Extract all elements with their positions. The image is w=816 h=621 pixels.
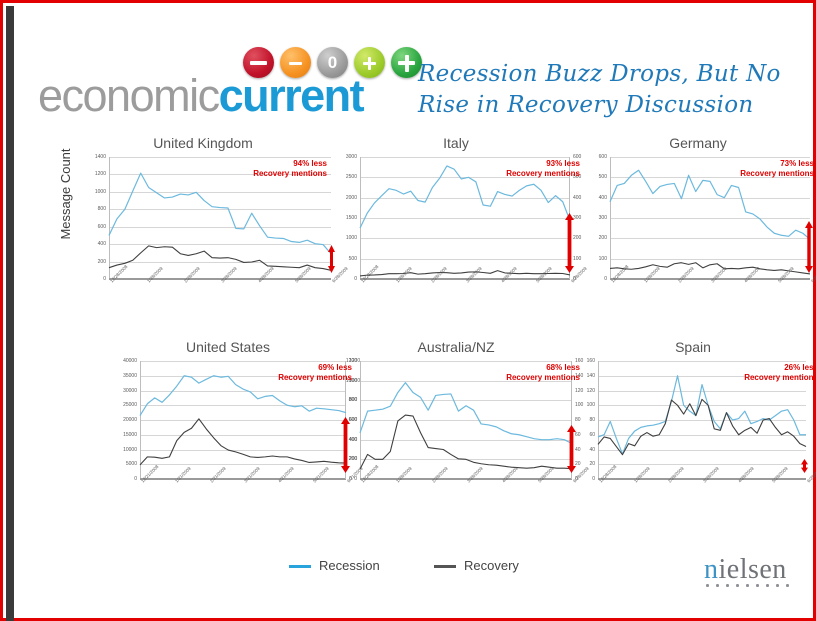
annotation-percent: 94% less (253, 159, 327, 169)
x-axis: 12/28/20081/28/20092/28/20093/28/20094/2… (360, 279, 570, 309)
chart-title: Spain (566, 339, 816, 355)
y-axis-left: 0500010000150002000025000300003500040000 (102, 361, 140, 479)
series-recovery (109, 246, 331, 270)
gap-arrow (800, 459, 809, 473)
y-tick-label: 40000 (123, 358, 137, 364)
y-tick-label: 30000 (123, 388, 137, 394)
nielsen-wordmark: nielsen (704, 554, 804, 586)
chart-title: United States (102, 339, 354, 355)
annotation-callout: 94% lessRecovery mentions (253, 159, 327, 179)
annotation-callout: 69% lessRecovery mentions (278, 363, 352, 383)
y-tick-label: 1000 (346, 235, 357, 241)
annotation-subtext: Recovery mentions (278, 373, 352, 383)
page-title: Recession Buzz Drops, But No Rise in Rec… (418, 59, 790, 121)
nielsen-logo: nielsen (704, 554, 804, 594)
series-recession (598, 376, 806, 454)
x-axis: 12/28/20081/28/20092/28/20093/28/20094/2… (610, 279, 810, 309)
annotation-subtext: Recovery mentions (506, 169, 580, 179)
y-tick-label: 0 (134, 476, 137, 482)
y-tick-label: 0 (354, 276, 357, 282)
gap-arrow (804, 221, 814, 273)
chart-legend: Recession Recovery (289, 557, 569, 577)
series-recession (610, 170, 810, 239)
y-axis-left: 0100200300400500600 (580, 157, 610, 279)
slide-frame: 0 economiccurrent Recession Buzz Drops, … (0, 0, 816, 621)
series-recovery (598, 399, 806, 454)
y-tick-label: 15000 (123, 432, 137, 438)
y-tick-label: 0 (592, 476, 595, 482)
y-tick-label: 60 (589, 432, 595, 438)
series-recovery (610, 263, 810, 274)
legend-label-recovery: Recovery (464, 557, 519, 575)
gap-arrow (327, 245, 336, 273)
series-recession (360, 383, 572, 444)
y-tick-label: 1500 (346, 215, 357, 221)
y-tick-label: 3000 (346, 154, 357, 160)
y-tick-label: 400 (98, 241, 106, 247)
y-tick-label: 1400 (95, 154, 106, 160)
annotation-percent: 73% less (740, 159, 814, 169)
y-tick-label: 0 (354, 476, 357, 482)
y-tick-label: 300 (599, 215, 607, 221)
annotation-callout: 68% lessRecovery mentions (506, 363, 580, 383)
slide-content: 0 economiccurrent Recession Buzz Drops, … (14, 9, 813, 618)
y-tick-label: 400 (599, 195, 607, 201)
y-tick-label: 5000 (126, 461, 137, 467)
y-tick-label: 20000 (123, 417, 137, 423)
y-axis-title: Message Count (58, 114, 73, 274)
y-axis-left: 0200400600800100012001400 (77, 157, 109, 279)
chart-panel-italy: Italy05001000150020002500300001002003004… (330, 135, 582, 287)
annotation-subtext: Recovery mentions (506, 373, 580, 383)
y-tick-label: 20 (589, 461, 595, 467)
annotation-subtext: Recovery mentions (253, 169, 327, 179)
series-recovery (140, 419, 346, 465)
economiccurrent-logo: 0 economiccurrent (38, 47, 418, 122)
annotation-callout: 93% lessRecovery mentions (506, 159, 580, 179)
brand-word-current: current (219, 70, 364, 121)
x-axis: 12/28/20081/28/20092/28/20093/28/20094/2… (109, 279, 331, 309)
brand-wordmark: economiccurrent (38, 71, 363, 121)
x-axis: 12/28/20081/28/20092/28/20093/28/20094/2… (598, 479, 806, 509)
slide-header: 0 economiccurrent Recession Buzz Drops, … (14, 9, 813, 129)
y-tick-label: 40 (589, 447, 595, 453)
y-tick-label: 100 (587, 402, 595, 408)
chart-title: Italy (330, 135, 582, 151)
y-tick-label: 35000 (123, 373, 137, 379)
y-tick-label: 100 (599, 256, 607, 262)
y-tick-label: 120 (587, 388, 595, 394)
chart-panel-united-kingdom: United Kingdom02004006008001000120014001… (77, 135, 329, 287)
series-recovery (360, 415, 572, 469)
series-recession (109, 173, 331, 254)
chart-panel-germany: Germany010020030040050060012/28/20081/28… (580, 135, 816, 287)
annotation-percent: 93% less (506, 159, 580, 169)
y-tick-label: 140 (587, 373, 595, 379)
annotation-subtext: Recovery mentions (740, 169, 814, 179)
nielsen-n: n (704, 554, 719, 585)
y-tick-label: 10000 (123, 447, 137, 453)
gap-arrow (564, 213, 575, 273)
legend-swatch-recession (289, 565, 311, 568)
chart-panel-australia-nz: Australia/NZ0200400600800100012000204060… (330, 339, 582, 499)
y-tick-label: 800 (349, 397, 357, 403)
y-tick-label: 800 (98, 206, 106, 212)
y-tick-label: 80 (589, 417, 595, 423)
annotation-subtext: Recovery mentions (744, 373, 816, 383)
annotation-percent: 26% less (744, 363, 816, 373)
annotation-callout: 73% lessRecovery mentions (740, 159, 814, 179)
y-tick-label: 600 (98, 224, 106, 230)
y-tick-label: 600 (599, 154, 607, 160)
chart-title: Germany (580, 135, 816, 151)
y-tick-label: 1200 (95, 171, 106, 177)
nielsen-dots (706, 584, 798, 590)
chart-panel-united-states: United States050001000015000200002500030… (102, 339, 354, 499)
y-tick-label: 200 (599, 235, 607, 241)
nielsen-ielsen: ielsen (719, 554, 787, 585)
annotation-percent: 69% less (278, 363, 352, 373)
y-tick-label: 0 (604, 276, 607, 282)
y-tick-label: 2500 (346, 174, 357, 180)
y-tick-label: 25000 (123, 402, 137, 408)
gap-arrow (566, 425, 577, 473)
legend-label-recession: Recession (319, 557, 380, 575)
gap-arrow (340, 417, 351, 473)
annotation-percent: 68% less (506, 363, 580, 373)
x-axis: 12/28/20081/28/20092/28/20093/28/20094/2… (360, 479, 572, 509)
y-tick-label: 200 (98, 259, 106, 265)
y-tick-label: 160 (587, 358, 595, 364)
y-tick-label: 2000 (346, 195, 357, 201)
left-accent-bar (6, 6, 14, 621)
chart-title: Australia/NZ (330, 339, 582, 355)
annotation-callout: 26% lessRecovery mentions (744, 363, 816, 383)
y-tick-label: 500 (349, 256, 357, 262)
chart-panel-spain: Spain02040608010012014016012/28/20081/28… (566, 339, 816, 499)
y-tick-label: 0 (103, 276, 106, 282)
chart-title: United Kingdom (77, 135, 329, 151)
y-tick-label: 1000 (95, 189, 106, 195)
y-tick-label: 500 (599, 174, 607, 180)
legend-swatch-recovery (434, 565, 456, 568)
x-axis: 12/21/20081/21/20092/21/20093/21/20094/2… (140, 479, 346, 509)
